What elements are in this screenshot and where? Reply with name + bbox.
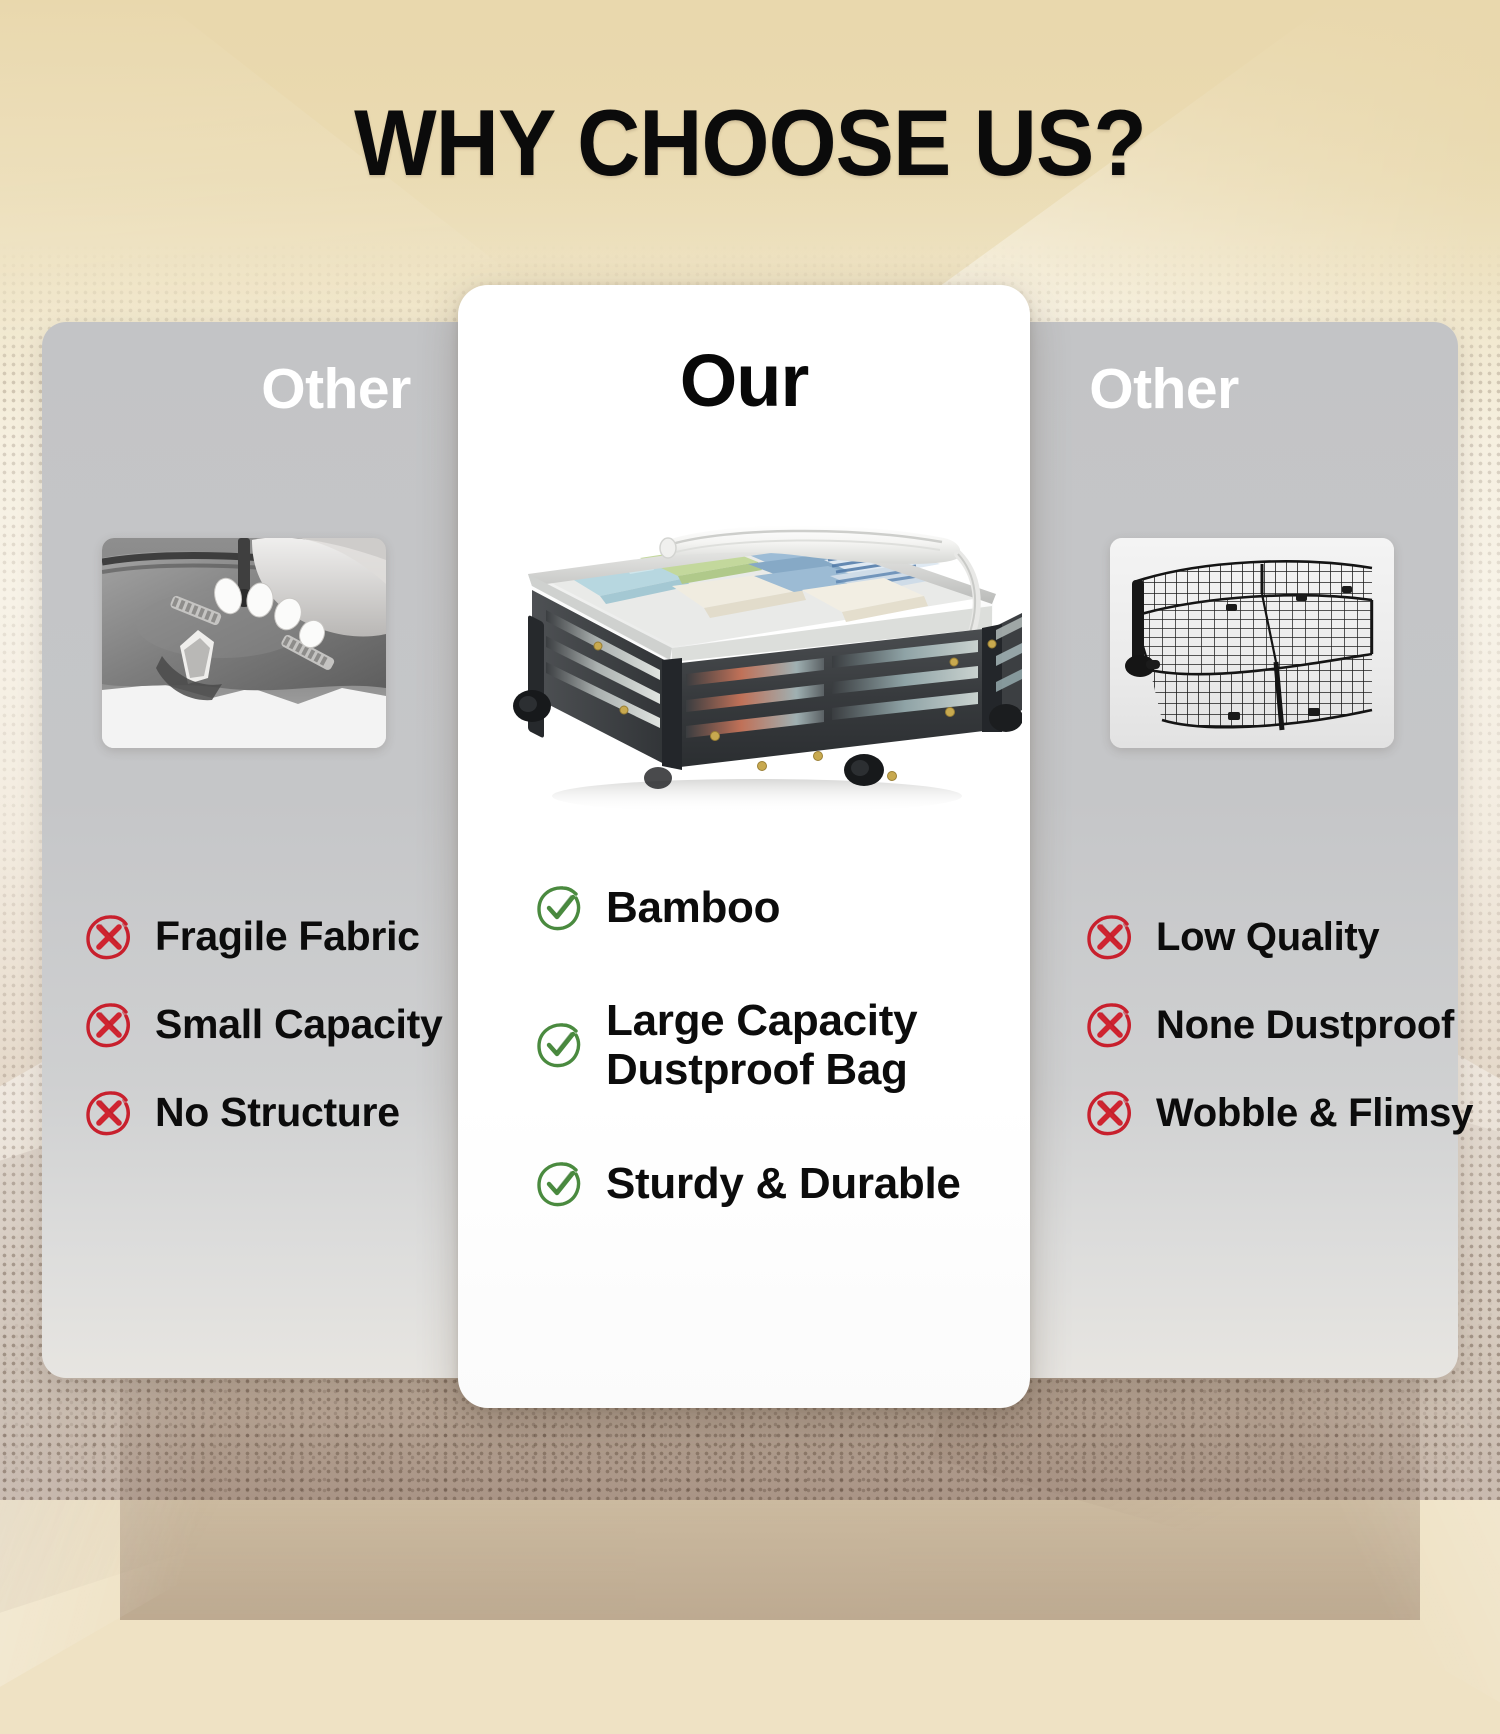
- cross-icon: [85, 1001, 133, 1049]
- feature-list-right: Low Quality None Dustproof Wobble & Flim…: [1086, 893, 1500, 1157]
- page-title: WHY CHOOSE US?: [53, 96, 1448, 190]
- list-item: Large Capacity Dustproof Bag: [536, 986, 1006, 1104]
- bamboo-underbed-storage-box-with-dustproof-bag-photo: [472, 478, 1022, 818]
- thumbnail-left: [102, 538, 386, 748]
- check-icon: [536, 884, 584, 932]
- cross-icon: [85, 1089, 133, 1137]
- cross-icon: [1086, 1001, 1134, 1049]
- cross-icon: [1086, 913, 1134, 961]
- list-item: Low Quality: [1086, 893, 1500, 981]
- list-item-label: None Dustproof: [1156, 1003, 1454, 1048]
- list-item-label: Fragile Fabric: [155, 914, 420, 960]
- list-item: Fragile Fabric: [85, 893, 555, 981]
- list-item: Bamboo: [536, 862, 1006, 954]
- list-item-label: Sturdy & Durable: [606, 1159, 961, 1208]
- list-item: Small Capacity: [85, 981, 555, 1069]
- list-item: No Structure: [85, 1069, 555, 1157]
- thumbnail-right: [1110, 538, 1394, 748]
- list-item-label: Small Capacity: [155, 1002, 443, 1048]
- cross-icon: [1086, 1089, 1134, 1137]
- list-item: None Dustproof: [1086, 981, 1500, 1069]
- list-item-label: Large Capacity Dustproof Bag: [606, 996, 917, 1095]
- list-item-label: Wobble & Flimsy: [1156, 1091, 1473, 1136]
- panel-heading-center: Our: [458, 338, 1030, 423]
- cross-icon: [85, 913, 133, 961]
- black-wire-mesh-basket-photo: [1110, 538, 1394, 748]
- list-item-label: Low Quality: [1156, 915, 1379, 960]
- list-item: Wobble & Flimsy: [1086, 1069, 1500, 1157]
- feature-list-left: Fragile Fabric Small Capacity No Structu…: [85, 893, 555, 1157]
- product-hero-image: [472, 478, 1022, 818]
- check-icon: [536, 1160, 584, 1208]
- list-item: Sturdy & Durable: [536, 1138, 1006, 1230]
- feature-list-center: Bamboo Large Capacity Dustproof Bag Stur…: [536, 862, 1006, 1252]
- list-item-label: Bamboo: [606, 883, 780, 932]
- check-icon: [536, 1021, 584, 1069]
- broken-zipper-fabric-bag-photo: [102, 538, 386, 748]
- list-item-label: No Structure: [155, 1090, 400, 1136]
